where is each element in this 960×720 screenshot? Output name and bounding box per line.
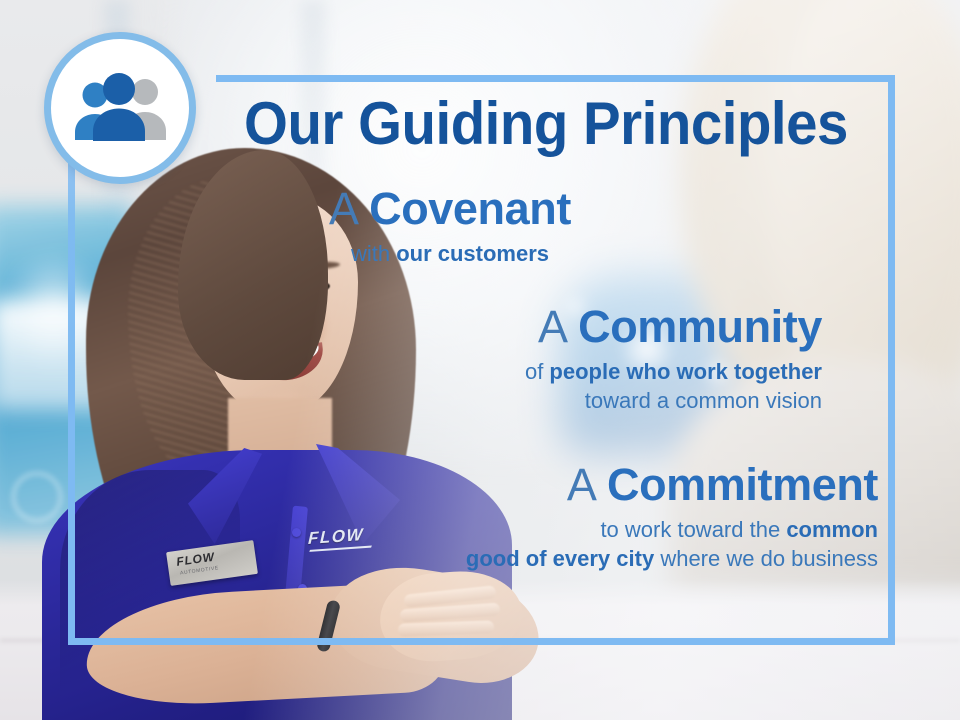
blurred-customer xyxy=(670,0,960,490)
principle-title: A Covenant xyxy=(240,186,660,232)
subtext-plain: of xyxy=(525,359,549,384)
principle-keyword: Community xyxy=(578,301,822,352)
principle-covenant: A Covenant with our customers xyxy=(240,186,660,268)
principle-subtext: of people who work together toward a com… xyxy=(330,357,822,415)
principle-subtext: with our customers xyxy=(240,239,660,268)
subtext-plain: with xyxy=(351,241,396,266)
subtext-plain-line3: where we do business xyxy=(654,546,878,571)
subtext-plain-line2: toward a common vision xyxy=(585,388,822,413)
principle-title: A Community xyxy=(330,304,822,350)
subtext-bold-line2: good of every city xyxy=(466,546,654,571)
subtext-bold: our customers xyxy=(396,241,549,266)
principle-article: A xyxy=(329,183,357,234)
principle-subtext: to work toward the common good of every … xyxy=(400,515,878,573)
polo-button xyxy=(292,528,301,537)
principle-community: A Community of people who work together … xyxy=(330,304,822,415)
people-badge-circle xyxy=(44,32,196,184)
subtext-bold: people who work together xyxy=(549,359,822,384)
subtext-bold: common xyxy=(786,517,878,542)
subtext-plain: to work toward the xyxy=(600,517,786,542)
principle-keyword: Covenant xyxy=(369,183,571,234)
principle-article: A xyxy=(567,459,595,510)
people-group-icon xyxy=(68,71,172,145)
principle-title: A Commitment xyxy=(400,462,878,508)
principle-keyword: Commitment xyxy=(607,459,878,510)
principle-commitment: A Commitment to work toward the common g… xyxy=(400,462,878,573)
guiding-principles-poster: FLOW FLOW AUTOMOTIVE xyxy=(0,0,960,720)
chest-flow-logo: FLOW xyxy=(308,525,365,549)
principle-article: A xyxy=(538,301,566,352)
page-title: Our Guiding Principles xyxy=(236,94,856,154)
